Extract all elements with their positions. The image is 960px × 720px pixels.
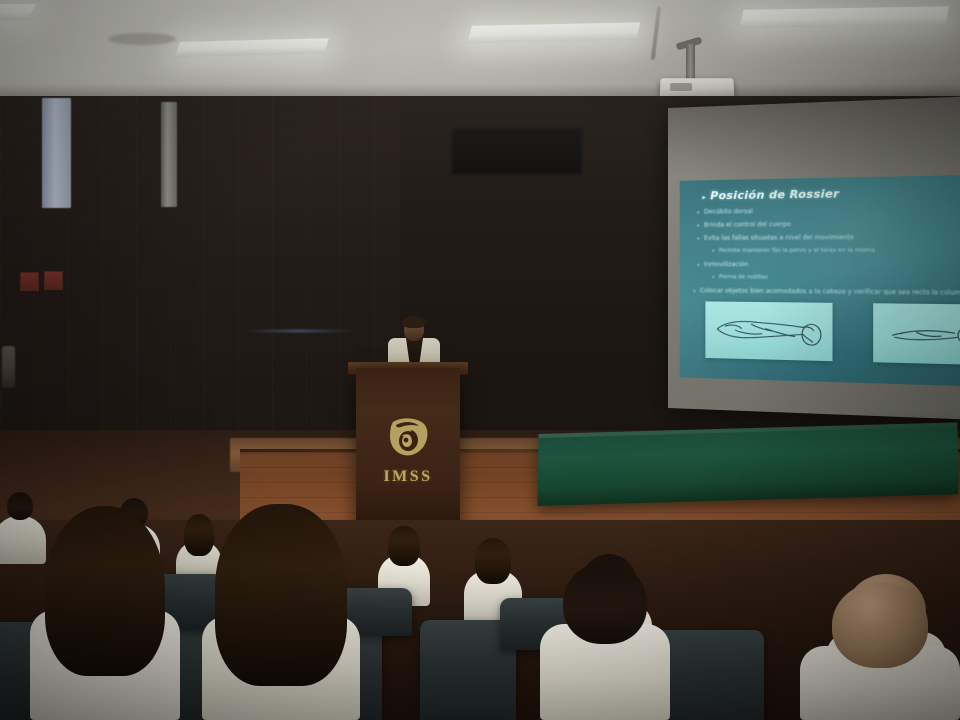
screen-shadow bbox=[668, 96, 960, 178]
slide-bullet-text: Pierna de rodillas bbox=[719, 274, 768, 280]
slide-bullet: ▸Inmovilización bbox=[697, 261, 748, 268]
attendee bbox=[30, 506, 180, 720]
slide-bullet-text: Brinda el control del cuerpo bbox=[704, 221, 791, 229]
light-streak bbox=[243, 330, 353, 332]
bullet-marker-icon: ▸ bbox=[702, 193, 706, 201]
emergency-sign-icon bbox=[44, 271, 63, 290]
attendee bbox=[202, 504, 360, 720]
auditorium-photo: ▸Posición de Rossier ▸Decúbito dorsal ▸B… bbox=[0, 0, 960, 720]
presenter-hair bbox=[402, 316, 426, 328]
slide-bullet: ▸Colocar objetos bien acomodados a la ca… bbox=[693, 287, 960, 297]
slide-figure-supine-position bbox=[705, 301, 832, 361]
attendee bbox=[800, 582, 960, 720]
attendee bbox=[540, 562, 670, 720]
ceiling-light-icon bbox=[175, 38, 329, 57]
ceiling-vent bbox=[108, 33, 176, 45]
imss-eagle-logo-icon bbox=[385, 416, 431, 460]
bullet-marker-icon: ▸ bbox=[697, 262, 699, 268]
position-detail-diagram-icon bbox=[873, 303, 960, 365]
slide-title: ▸Posición de Rossier bbox=[702, 187, 839, 203]
slide-bullet-text: Inmovilización bbox=[704, 261, 748, 268]
slide-sub-bullet: ▸Pierna de rodillas bbox=[712, 274, 767, 280]
slide-bullet: ▸Brinda el control del cuerpo bbox=[697, 221, 791, 229]
presentation-slide: ▸Posición de Rossier ▸Decúbito dorsal ▸B… bbox=[680, 175, 960, 386]
slide-title-text: Posición de Rossier bbox=[710, 187, 839, 202]
supine-body-diagram-icon bbox=[705, 301, 832, 361]
slide-bullet-text: Evita las fallas situadas a nivel del mo… bbox=[704, 234, 854, 242]
slide-bullet-text: Decúbito dorsal bbox=[704, 208, 753, 216]
bullet-marker-icon: ▸ bbox=[697, 236, 699, 242]
wall-pillar-lit bbox=[42, 98, 71, 208]
fire-extinguisher-icon bbox=[2, 346, 15, 388]
wall-mounted-panel bbox=[452, 128, 582, 174]
audience bbox=[0, 470, 960, 720]
bullet-marker-icon: ▸ bbox=[712, 248, 715, 254]
ceiling-light-icon bbox=[467, 22, 640, 43]
bullet-marker-icon: ▸ bbox=[697, 210, 699, 216]
attendee-hair bbox=[45, 506, 165, 676]
slide-bullet: ▸Decúbito dorsal bbox=[697, 208, 752, 216]
slide-bullet-text: Permite mantener fijo la pelvis y el tór… bbox=[719, 247, 875, 253]
ceiling-light-icon bbox=[740, 6, 949, 28]
attendee-head-bald bbox=[832, 582, 928, 668]
projector-mount-arm bbox=[686, 44, 695, 80]
bullet-marker-icon: ▸ bbox=[697, 223, 699, 229]
projection-screen: ▸Posición de Rossier ▸Decúbito dorsal ▸B… bbox=[668, 96, 960, 420]
slide-sub-bullet: ▸Permite mantener fijo la pelvis y el tó… bbox=[712, 247, 875, 253]
attendee-hair bbox=[215, 504, 347, 686]
attendee-hair bbox=[475, 538, 511, 584]
bullet-marker-icon: ▸ bbox=[693, 288, 695, 294]
slide-figure-position-detail bbox=[873, 303, 960, 365]
bullet-marker-icon: ▸ bbox=[712, 274, 715, 280]
ceiling-light-icon bbox=[0, 4, 36, 20]
wall-pillar bbox=[161, 102, 177, 207]
slide-bullet-text: Colocar objetos bien acomodados a la cab… bbox=[700, 287, 960, 297]
slide-bullet: ▸Evita las fallas situadas a nivel del m… bbox=[697, 234, 853, 242]
emergency-sign-icon bbox=[20, 272, 39, 291]
attendee-head bbox=[563, 562, 647, 644]
attendee-hair bbox=[388, 526, 420, 566]
